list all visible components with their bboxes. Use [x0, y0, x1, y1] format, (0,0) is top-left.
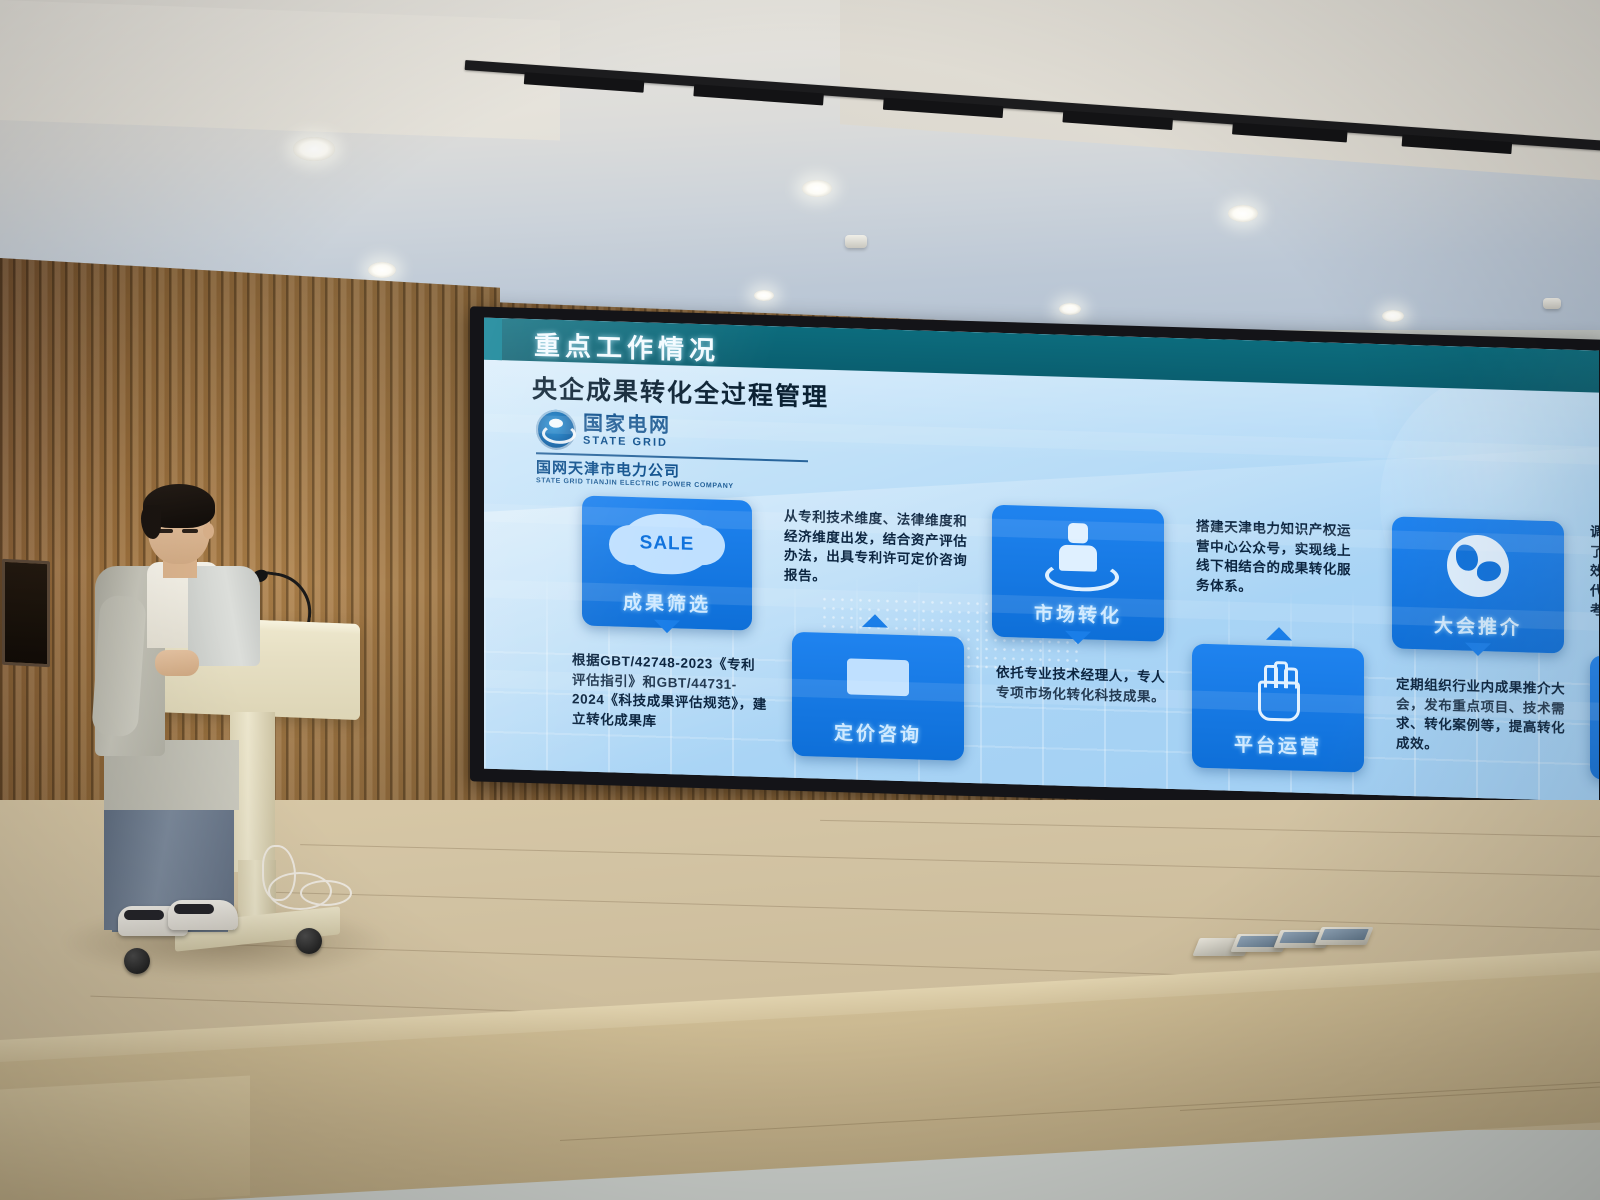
desc-shichang: 依托专业技术经理人，专人专项市场化转化科技成果。 [996, 663, 1174, 707]
wall-recess-opening [2, 559, 50, 668]
lectern-caster [124, 948, 150, 974]
card-dingjia-zixun[interactable]: 定价咨询 [792, 632, 964, 761]
slide-title: 重点工作情况 [534, 325, 720, 367]
card-label: 定价咨询 [834, 718, 922, 748]
sale-tag-icon: SALE [621, 512, 713, 575]
recessed-downlight [293, 137, 335, 161]
scene-root: 重点工作情况 央企成果转化全过程管理 国家电网 STATE GRID 国网天津市… [0, 0, 1600, 1200]
ceiling-panel-right [840, 0, 1600, 180]
recessed-downlight [802, 180, 832, 197]
person-jacket-right [188, 566, 260, 666]
person-ear [203, 523, 214, 539]
smoke-detector [1543, 298, 1561, 309]
floor-socket-box [1314, 927, 1373, 945]
presentation-slide: 重点工作情况 央企成果转化全过程管理 国家电网 STATE GRID 国网天津市… [484, 318, 1599, 802]
card-icon-slot: SALE [582, 496, 752, 592]
flow-arrow-down [1465, 643, 1491, 657]
card-label: 大会推介 [1434, 611, 1522, 641]
recessed-downlight [368, 262, 396, 278]
smoke-detector [845, 235, 867, 248]
recessed-downlight [1228, 205, 1258, 222]
desc-dingjia: 从专利技术维度、法律维度和经济维度出发，结合资产评估办法，出具专利许可定价咨询报… [784, 507, 968, 591]
recessed-downlight [754, 290, 774, 301]
card-shichang-zhuanhua[interactable]: 市场转化 [992, 505, 1164, 642]
card-label: 平台运营 [1234, 730, 1322, 760]
person-hand [155, 650, 199, 676]
globe-icon [1447, 534, 1509, 598]
desc-shaixuan: 根据GBT/42748-2023《专利评估指引》和GBT/44731-2024《… [572, 650, 768, 734]
card-dahui-tuijie[interactable]: 大会推介 [1392, 516, 1564, 653]
card-icon-slot: $ [1590, 655, 1599, 745]
card-pingtai-yunying[interactable]: 平台运营 [1192, 644, 1364, 773]
logo-company-cn: 国家电网 [583, 414, 671, 438]
power-cable [300, 880, 352, 906]
stage-step [0, 1075, 250, 1200]
card-label: 市场转化 [1034, 599, 1122, 629]
card-chengguo-shaixuan[interactable]: SALE 成果筛选 [582, 496, 752, 631]
flow-arrow-up [862, 614, 888, 628]
recessed-downlight [1382, 310, 1404, 322]
flow-arrow-down [1065, 631, 1091, 645]
flow-arrow-up [1266, 627, 1292, 641]
card-icon [847, 658, 909, 696]
desc-pingtai: 搭建天津电力知识产权运营中心公众号，实现线上线下相结合的成果转化服务体系。 [1196, 517, 1364, 600]
card-label: 成果筛选 [623, 588, 711, 618]
desc-dahui: 定期组织行业内成果推介大会，发布重点项目、技术需求、转化案例等，提高转化成效。 [1396, 675, 1568, 758]
card-icon-slot [1392, 516, 1564, 614]
person-icon [1043, 522, 1113, 586]
card-zhuanhua-chengxiao[interactable]: $ 转化成效分析 [1590, 655, 1599, 784]
card-icon-slot [992, 505, 1164, 603]
desc-chengxiao: 调研分析已转化交易项目，了解转化后经济效益、产业效益、社会效益，为技术迭代和转化… [1590, 522, 1599, 625]
flow-arrow-down [654, 620, 680, 634]
person-eye-right [182, 529, 198, 533]
state-grid-logo: 国家电网 STATE GRID 国网天津市电力公司 STATE GRID TIA… [536, 409, 808, 492]
recessed-downlight [1059, 303, 1081, 315]
lectern-caster [296, 928, 322, 954]
led-display-screen[interactable]: 重点工作情况 央企成果转化全过程管理 国家电网 STATE GRID 国网天津市… [470, 306, 1600, 814]
person-arm-left [91, 595, 147, 738]
screen-panel: 重点工作情况 央企成果转化全过程管理 国家电网 STATE GRID 国网天津市… [484, 318, 1599, 802]
card-icon-slot [792, 632, 964, 722]
slide-subtitle: 央企成果转化全过程管理 [532, 369, 829, 414]
sale-text: SALE [640, 532, 695, 556]
title-bar-accent [484, 318, 502, 361]
person-shoe-right [168, 900, 238, 930]
logo-company-en: STATE GRID [583, 435, 671, 450]
pointer-hand-icon [1252, 658, 1304, 720]
state-grid-emblem-icon [536, 409, 576, 450]
card-icon-slot [1192, 644, 1364, 734]
